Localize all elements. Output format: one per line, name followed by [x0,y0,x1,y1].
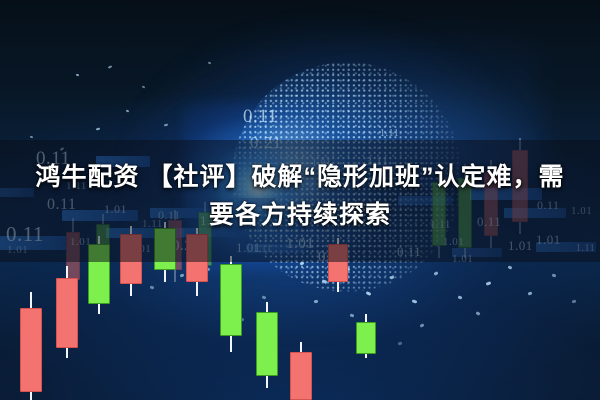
candle-body [256,312,278,376]
candle-body [356,322,376,354]
headline-line-2: 要各方持续探索 [0,196,600,234]
banner-image: 0.110.110.111.011.011.011.011.111.110.11… [0,0,600,400]
headline: 鸿牛配资 【社评】破解“隐形加班”认定难，需 要各方持续探索 [0,158,600,234]
light-particle [420,323,425,328]
light-particle [572,299,577,303]
light-particle [322,279,328,284]
light-particle [350,313,355,317]
candle-body [290,352,312,400]
light-particle [434,271,439,276]
headline-line-1: 鸿牛配资 【社评】破解“隐形加班”认定难，需 [0,158,600,196]
light-particle [142,85,146,88]
light-particle [552,273,557,277]
light-particle [412,299,418,303]
light-particle [180,273,185,277]
light-particle [398,341,403,345]
light-particle [486,281,492,286]
light-particle [390,275,395,279]
light-particle [476,311,481,316]
light-particle [528,291,533,295]
candle-body [20,308,42,392]
light-particle [314,300,319,304]
light-particle [208,62,212,65]
candle-body [220,264,242,336]
light-particle [508,265,513,269]
light-particle [458,295,463,299]
candle-body [56,278,78,348]
